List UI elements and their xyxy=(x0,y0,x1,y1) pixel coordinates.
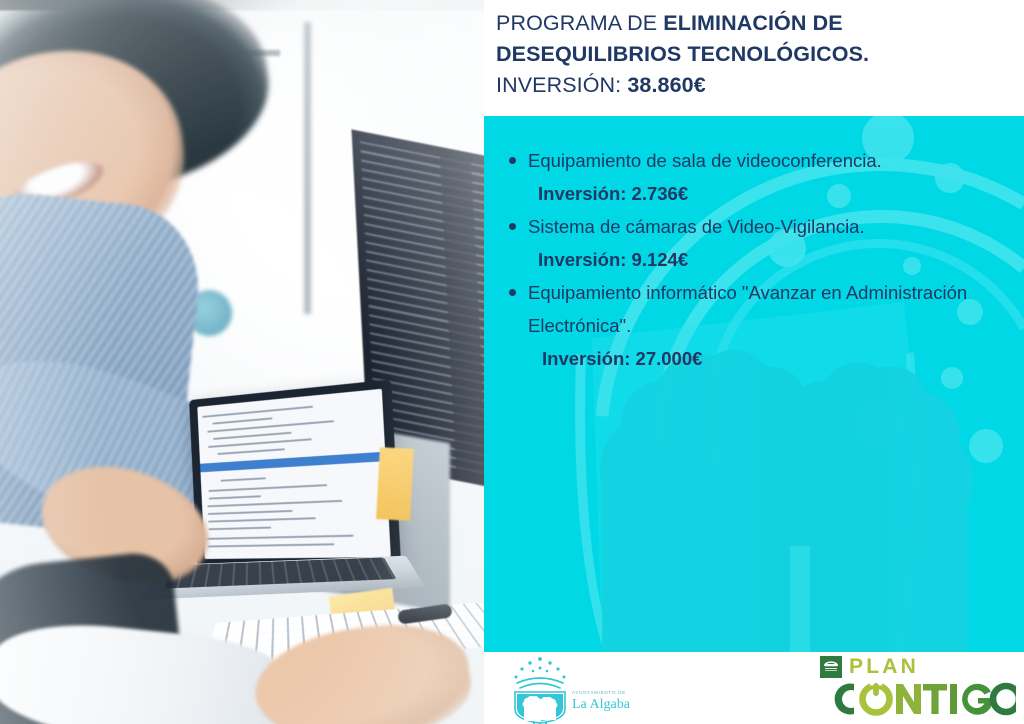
contigo-letter-t xyxy=(923,684,947,714)
office-photo xyxy=(0,0,484,724)
page-title: PROGRAMA DE ELIMINACIÓN DE DESEQUILIBRIO… xyxy=(496,8,1016,101)
header-band: PROGRAMA DE ELIMINACIÓN DE DESEQUILIBRIO… xyxy=(484,0,1024,116)
contigo-row xyxy=(820,676,1016,722)
investment-list: Equipamiento de sala de videoconferencia… xyxy=(502,144,1008,375)
title-investment-total: 38.860€ xyxy=(627,73,705,97)
investment-list-items: Equipamiento de sala de videoconferencia… xyxy=(502,144,1008,375)
contigo-letter-n xyxy=(896,684,921,714)
crown-arcs-icon xyxy=(517,678,563,688)
slide-canvas: PROGRAMA DE ELIMINACIÓN DE DESEQUILIBRIO… xyxy=(0,0,1024,724)
contigo-letter-g xyxy=(962,684,991,715)
power-symbol-icon xyxy=(863,682,890,713)
footer-band: AYUNTAMIENTO DE La Algaba PLAN xyxy=(484,652,1024,724)
content-column: PROGRAMA DE ELIMINACIÓN DE DESEQUILIBRIO… xyxy=(484,0,1024,724)
shield-trees-icon xyxy=(523,696,558,721)
contigo-letter-o xyxy=(993,686,1016,712)
title-investment-label: INVERSIÓN: xyxy=(496,73,621,97)
list-item-amount: Inversión: 9.124€ xyxy=(528,243,1008,276)
photo-vignette xyxy=(0,0,484,724)
list-item-description: Equipamiento de sala de videoconferencia… xyxy=(528,150,882,171)
list-item-description: Sistema de cámaras de Video-Vigilancia. xyxy=(528,216,865,237)
list-item-amount: Inversión: 2.736€ xyxy=(528,177,1008,210)
ayuntamiento-kicker: AYUNTAMIENTO DE xyxy=(572,690,626,695)
title-program-label: PROGRAMA DE xyxy=(496,11,657,35)
ayuntamiento-la-algaba-logo: AYUNTAMIENTO DE La Algaba xyxy=(506,654,646,724)
contigo-letter-c xyxy=(835,684,854,715)
crown-dots-icon xyxy=(515,657,566,678)
list-item: Sistema de cámaras de Video-Vigilancia. … xyxy=(502,210,1008,276)
plan-contigo-logo: PLAN xyxy=(820,656,1016,720)
junta-andalucia-badge-icon xyxy=(820,656,842,678)
list-item: Equipamiento de sala de videoconferencia… xyxy=(502,144,1008,210)
highlight-panel: Equipamiento de sala de videoconferencia… xyxy=(484,116,1024,652)
list-item-description: Equipamiento informático "Avanzar en Adm… xyxy=(528,282,967,336)
plan-row: PLAN xyxy=(820,656,919,678)
contigo-letter-i xyxy=(950,684,957,714)
ayuntamiento-name: La Algaba xyxy=(572,697,631,712)
list-item-amount: Inversión: 27.000€ xyxy=(528,342,1008,375)
plan-word: PLAN xyxy=(849,656,919,678)
list-item: Equipamiento informático "Avanzar en Adm… xyxy=(502,276,1008,375)
